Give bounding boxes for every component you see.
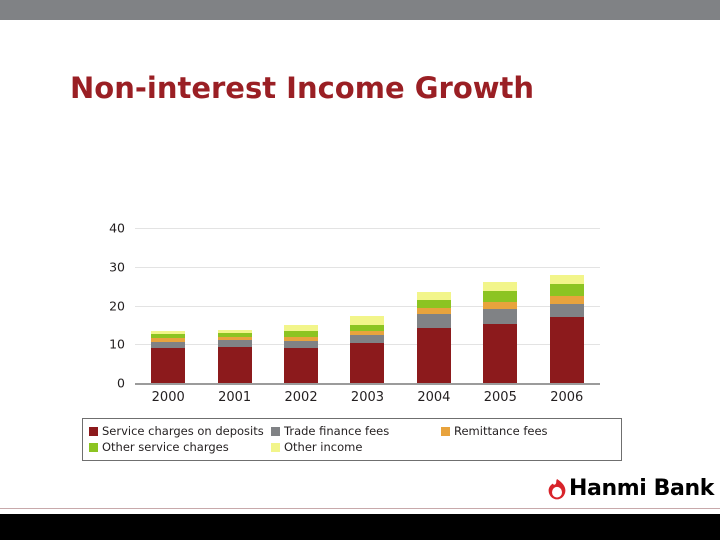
bar-segment: [417, 300, 451, 308]
legend-item: Trade finance fees: [271, 424, 441, 438]
bar-column: [207, 228, 263, 383]
x-axis-tick-label: 2002: [273, 390, 329, 405]
legend-row: Service charges on depositsTrade finance…: [89, 423, 615, 439]
stacked-bar: [417, 292, 451, 383]
bar-segment: [284, 325, 318, 332]
chart-bars: [135, 228, 600, 383]
stacked-bar: [284, 325, 318, 383]
stacked-bar: [218, 330, 252, 383]
legend-swatch: [89, 443, 98, 452]
bar-segment: [483, 282, 517, 291]
bar-segment: [218, 347, 252, 383]
legend-swatch: [271, 427, 280, 436]
stacked-bar: [151, 331, 185, 383]
bar-segment: [350, 316, 384, 325]
bar-segment: [483, 291, 517, 302]
logo-text: Hanmi Bank: [569, 478, 714, 500]
bar-segment: [483, 302, 517, 309]
page-title: Non-interest Income Growth: [70, 70, 650, 106]
bar-segment: [151, 348, 185, 383]
y-axis-tick-label: 20: [109, 298, 125, 313]
bar-segment: [550, 284, 584, 296]
stacked-bar: [550, 275, 584, 383]
legend-swatch: [271, 443, 280, 452]
bottom-band: [0, 514, 720, 540]
chart-legend: Service charges on depositsTrade finance…: [82, 418, 622, 461]
legend-item: Service charges on deposits: [89, 424, 271, 438]
bar-column: [539, 228, 595, 383]
bar-column: [339, 228, 395, 383]
legend-swatch: [89, 427, 98, 436]
bar-segment: [550, 296, 584, 303]
bar-segment: [483, 324, 517, 383]
bar-column: [406, 228, 462, 383]
legend-label: Other income: [284, 440, 362, 454]
bar-segment: [483, 309, 517, 323]
chart-x-axis: 2000200120022003200420052006: [135, 390, 600, 405]
bar-segment: [417, 314, 451, 327]
x-axis-tick-label: 2001: [207, 390, 263, 405]
legend-label: Other service charges: [102, 440, 229, 454]
chart-plot-area: 010203040: [135, 228, 600, 383]
legend-swatch: [441, 427, 450, 436]
stacked-bar: [483, 282, 517, 383]
y-axis-tick-label: 10: [109, 337, 125, 352]
legend-label: Service charges on deposits: [102, 424, 264, 438]
bar-segment: [151, 342, 185, 349]
bar-segment: [550, 317, 584, 383]
x-axis-tick-label: 2000: [140, 390, 196, 405]
bar-column: [273, 228, 329, 383]
bar-segment: [284, 348, 318, 383]
legend-item: Other income: [271, 440, 441, 454]
x-axis-tick-label: 2004: [406, 390, 462, 405]
hanmi-bank-logo: Hanmi Bank: [548, 478, 714, 500]
bar-segment: [417, 292, 451, 300]
bar-segment: [350, 335, 384, 344]
bar-column: [472, 228, 528, 383]
legend-row: Other service chargesOther income: [89, 439, 615, 455]
stacked-bar: [350, 316, 384, 383]
slide-canvas: Non-interest Income Growth 010203040 200…: [0, 0, 720, 540]
x-axis-tick-label: 2006: [539, 390, 595, 405]
bar-segment: [284, 341, 318, 348]
legend-label: Trade finance fees: [284, 424, 389, 438]
chart-baseline: [135, 383, 600, 385]
bar-segment: [550, 275, 584, 284]
bar-segment: [218, 340, 252, 347]
hanmi-flame-icon: [548, 479, 566, 500]
legend-label: Remittance fees: [454, 424, 548, 438]
footer-divider: [0, 508, 720, 509]
x-axis-tick-label: 2005: [472, 390, 528, 405]
bar-segment: [350, 343, 384, 383]
x-axis-tick-label: 2003: [339, 390, 395, 405]
top-band: [0, 0, 720, 20]
chart-container: 010203040 2000200120022003200420052006 S…: [80, 220, 630, 460]
bar-segment: [417, 328, 451, 383]
y-axis-tick-label: 40: [109, 221, 125, 236]
bar-segment: [550, 304, 584, 318]
y-axis-tick-label: 0: [117, 376, 125, 391]
y-axis-tick-label: 30: [109, 259, 125, 274]
bar-column: [140, 228, 196, 383]
legend-item: Remittance fees: [441, 424, 591, 438]
legend-item: Other service charges: [89, 440, 271, 454]
